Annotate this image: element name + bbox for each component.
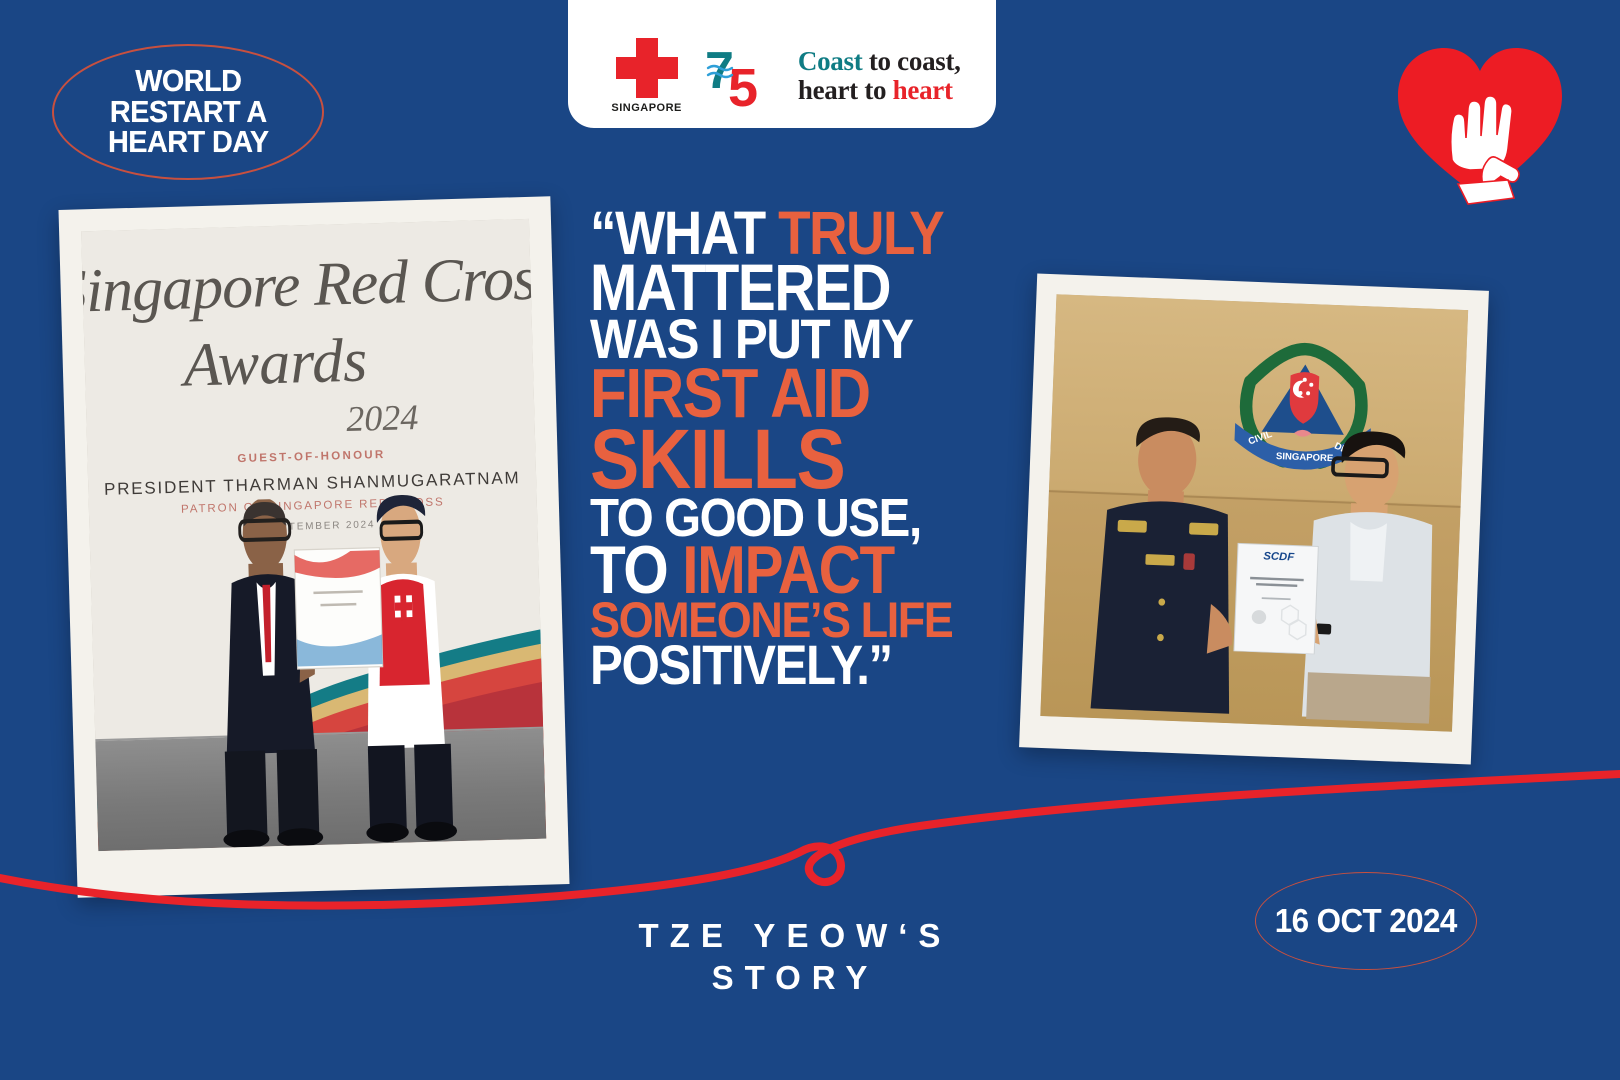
tagline-line-2: heart to heart	[798, 76, 961, 105]
campaign-badge-text: WORLD RESTART A HEART DAY	[108, 66, 269, 157]
pull-quote: “WHAT TRULY MATTERED WAS I PUT MY FIRST …	[590, 206, 982, 687]
quote-line-5: SKILLS	[590, 422, 935, 498]
figure-award-recipient	[1296, 422, 1448, 731]
quote-word: POSITIVELY.”	[590, 633, 892, 696]
campaign-tagline: Coast to coast, heart to heart	[798, 47, 961, 105]
logo-card: SINGAPORE 7 5 Coast to coast, heart to h…	[568, 0, 996, 128]
src-awards-scene: Singapore Red Cross Awards 2024 GUEST-OF…	[81, 219, 546, 851]
date-badge: 16 OCT 2024	[1255, 872, 1477, 970]
photo-award-ceremony-left: Singapore Red Cross Awards 2024 GUEST-OF…	[58, 196, 569, 897]
logo-row: SINGAPORE 7 5 Coast to coast, heart to h…	[603, 38, 960, 114]
story-caption-line-1: TZE YEOW‘S	[560, 915, 1030, 957]
backdrop-title-line-2: Awards	[182, 326, 368, 402]
world-restart-a-heart-day-badge: WORLD RESTART A HEART DAY	[52, 44, 324, 180]
award-certificate-left	[292, 546, 385, 672]
tagline-to-coast: to coast,	[862, 46, 960, 76]
backdrop-title-line-1: Singapore Red Cross	[81, 242, 546, 327]
svg-text:5: 5	[728, 58, 758, 110]
campaign-badge-line-3: HEART DAY	[108, 124, 269, 159]
photo-window-right: CIVIL SINGAPORE DEFENCE	[1040, 294, 1468, 732]
quote-line-9: POSITIVELY.”	[590, 640, 935, 690]
scdf-certificate: SCDF	[1232, 542, 1319, 655]
poster-canvas: WORLD RESTART A HEART DAY SINGAPORE 7 5	[0, 0, 1620, 1080]
figure-scdf-officer	[1081, 410, 1249, 724]
singapore-red-cross-logo: SINGAPORE	[611, 38, 682, 114]
story-caption: TZE YEOW‘S STORY	[560, 915, 1030, 999]
anniversary-75-icon: 7 5	[704, 42, 776, 110]
tagline-line-1: Coast to coast,	[798, 47, 961, 76]
tagline-heart-to: heart to	[798, 75, 893, 105]
backdrop-year: 2024	[346, 396, 419, 440]
red-cross-wordmark: SINGAPORE	[611, 102, 682, 114]
photo-scdf-award-right: CIVIL SINGAPORE DEFENCE	[1019, 273, 1489, 764]
tagline-heart-word: heart	[893, 75, 953, 105]
date-badge-text: 16 OCT 2024	[1275, 902, 1457, 940]
tagline-coast-word: Coast	[798, 46, 863, 76]
scdf-scene: CIVIL SINGAPORE DEFENCE	[1040, 294, 1468, 732]
photo-window-left: Singapore Red Cross Awards 2024 GUEST-OF…	[81, 219, 546, 851]
heart-with-hands-cpr-icon	[1392, 38, 1568, 206]
story-caption-line-2: STORY	[560, 957, 1030, 999]
certificate-brand-text: SCDF	[1263, 550, 1295, 563]
red-cross-icon	[616, 38, 678, 98]
